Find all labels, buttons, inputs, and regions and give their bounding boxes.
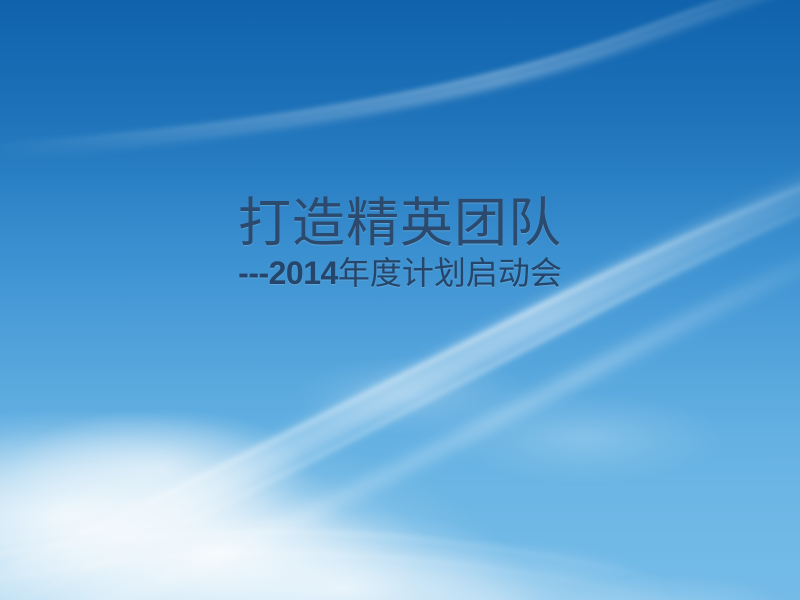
- cloud-mass-left: [0, 0, 800, 600]
- swoosh-band-diagonal-secondary: [0, 258, 800, 600]
- swoosh-arc-bottom-3: [0, 522, 370, 544]
- presentation-slide: 打造精英团队 ---2014年度计划启动会: [0, 0, 800, 600]
- cloud-mass-center-bottom: [0, 0, 800, 600]
- cloud-wisp-upper-left: [0, 0, 800, 600]
- slide-subtitle: ---2014年度计划启动会: [0, 256, 800, 292]
- sky-haze-bottom-left: [0, 0, 800, 600]
- swoosh-arc-bottom-1: [0, 532, 700, 590]
- title-block: 打造精英团队 ---2014年度计划启动会: [0, 196, 800, 292]
- slide-subtitle-rest: 年度计划启动会: [338, 254, 562, 292]
- swoosh-arc-bottom-2: [0, 554, 670, 600]
- cloud-wisp-far-right-bottom: [0, 0, 800, 600]
- swoosh-line-diagonal-lower: [0, 204, 800, 600]
- cloud-wisp-center: [0, 0, 800, 600]
- cloud-wisp-right: [0, 0, 800, 600]
- slide-title: 打造精英团队: [0, 196, 800, 252]
- cloud-mass-left-lower: [0, 0, 800, 600]
- light-swoosh-group: [0, 0, 800, 600]
- swoosh-arc-top: [0, 0, 800, 152]
- slide-subtitle-lead: ---2014: [238, 255, 338, 291]
- swoosh-band-diagonal: [0, 186, 800, 600]
- cloud-mass-right-bottom: [0, 0, 800, 600]
- swoosh-line-diagonal-upper: [0, 180, 800, 586]
- swoosh-arc-top-thin: [0, 0, 800, 146]
